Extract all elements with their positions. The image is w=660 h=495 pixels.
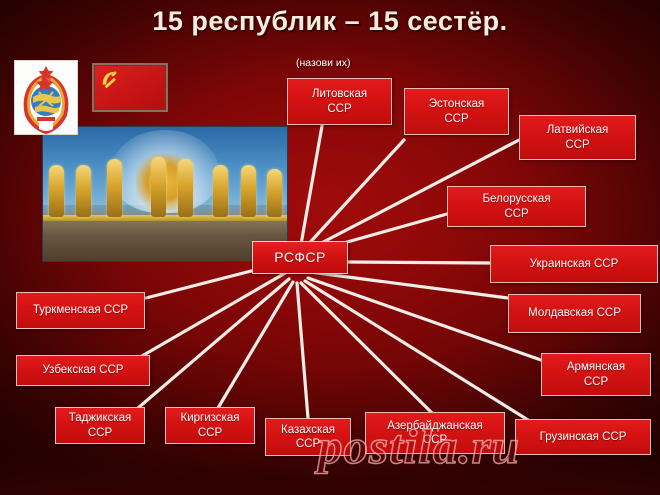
republic-box-gruzinskaya[interactable]: Грузинская ССР <box>515 419 651 455</box>
republic-box-litovskaya[interactable]: ЛитовскаяССР <box>287 78 392 125</box>
republic-label: Украинская ССР <box>530 257 619 271</box>
line-to-moldavskaya <box>310 272 508 298</box>
republic-label: Грузинская ССР <box>540 430 627 444</box>
line-to-kirgizskaya <box>218 282 293 408</box>
ussr-coat-of-arms-image <box>14 60 78 135</box>
ussr-flag-image <box>92 63 168 112</box>
line-to-ukrainskaya <box>348 262 490 263</box>
republic-label: АзербайджанскаяССР <box>387 419 483 448</box>
page-subtitle: (назови их) <box>296 57 351 69</box>
republic-box-tadzhikskaya[interactable]: ТаджикскаяССР <box>55 407 145 444</box>
hammer-and-sickle-icon <box>99 68 121 90</box>
republic-label: Молдавская ССР <box>528 306 621 320</box>
republic-box-belorusskaya[interactable]: БелорусскаяССР <box>447 186 586 227</box>
republic-box-latviyskaya[interactable]: ЛатвийскаяССР <box>519 115 636 160</box>
presentation-slide: 15 республик – 15 сестёр. (назови их) <box>0 0 660 495</box>
republic-label: ЛитовскаяССР <box>312 87 367 116</box>
republic-box-estonskaya[interactable]: ЭстонскаяССР <box>404 88 509 135</box>
republic-box-azerbaydzhanskaya[interactable]: АзербайджанскаяССР <box>365 412 505 454</box>
republic-box-kazakhskaya[interactable]: КазахскаяССР <box>265 418 351 456</box>
republic-box-turkmenskaya[interactable]: Туркменская ССР <box>16 292 145 329</box>
republic-label: КазахскаяССР <box>281 423 335 452</box>
republic-label: ТаджикскаяССР <box>69 411 132 440</box>
republic-label: БелорусскаяССР <box>482 192 550 221</box>
republic-label: КиргизскаяССР <box>181 411 240 440</box>
center-node-label: РСФСР <box>274 249 325 267</box>
line-to-armyanskaya <box>308 278 541 360</box>
line-to-kazakhskaya <box>297 283 308 418</box>
republic-label: Туркменская ССР <box>33 303 128 317</box>
page-title: 15 республик – 15 сестёр. <box>0 6 660 37</box>
republic-box-moldavskaya[interactable]: Молдавская ССР <box>508 294 641 333</box>
republic-label: Узбекская ССР <box>43 363 124 377</box>
republic-box-uzbekskaya[interactable]: Узбекская ССР <box>16 355 150 386</box>
republic-label: АрмянскаяССР <box>567 360 625 389</box>
republic-label: ЭстонскаяССР <box>429 97 485 126</box>
republic-box-kirgizskaya[interactable]: КиргизскаяССР <box>165 407 255 444</box>
center-node-rsfsr[interactable]: РСФСР <box>252 241 348 274</box>
republic-box-ukrainskaya[interactable]: Украинская ССР <box>490 245 658 283</box>
republic-box-armyanskaya[interactable]: АрмянскаяССР <box>541 353 651 396</box>
republic-label: ЛатвийскаяССР <box>547 123 609 152</box>
